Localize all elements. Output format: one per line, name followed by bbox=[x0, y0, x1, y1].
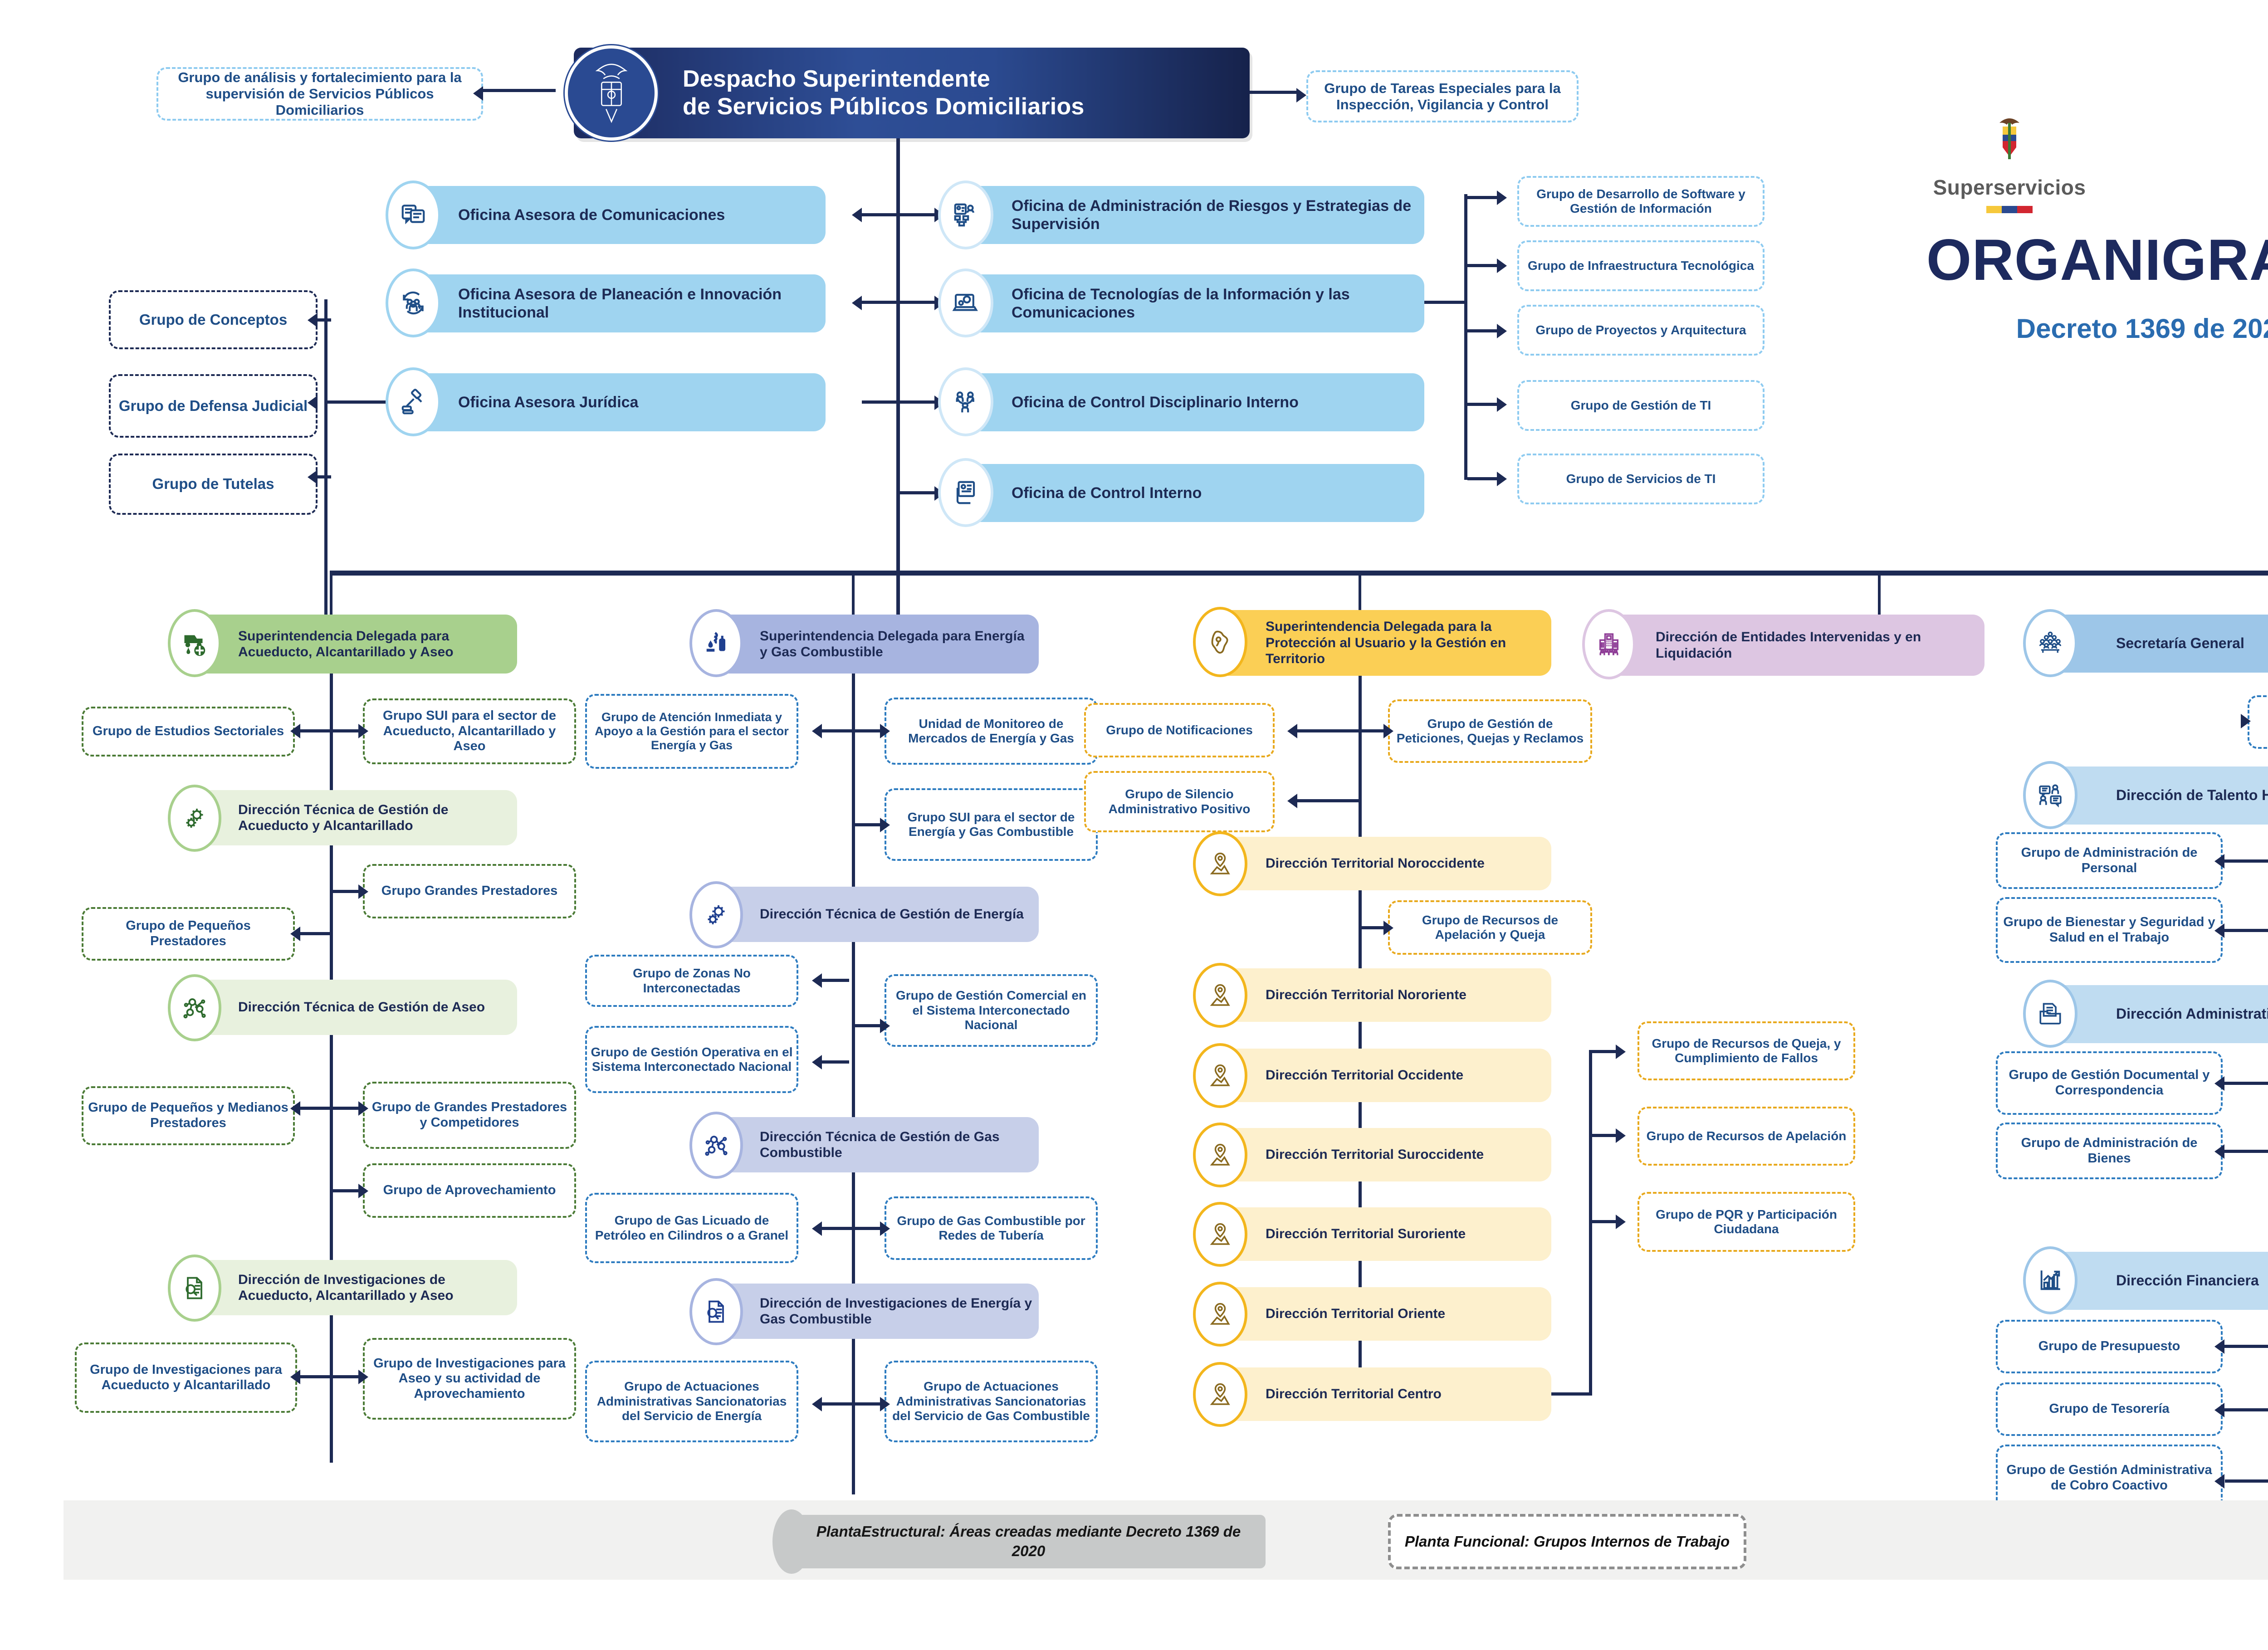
doc-magnifier-icon bbox=[689, 1278, 743, 1345]
arrow-queja-fallos bbox=[1616, 1045, 1626, 1059]
connector-zni bbox=[822, 979, 849, 982]
territorial-label: Dirección Territorial Suroccidente bbox=[1207, 1147, 1489, 1162]
direccion-territorial-centro[interactable]: Dirección Territorial Centro bbox=[1207, 1367, 1551, 1421]
direccion-tecnica-aseo[interactable]: Dirección Técnica de Gestión de Aseo bbox=[181, 980, 517, 1035]
connector-recursos-apelacion bbox=[1592, 1134, 1619, 1137]
office-label: Oficina de Administración de Riesgos y E… bbox=[953, 197, 1424, 233]
grupo-pequenos-prestadores[interactable]: Grupo de Pequeños Prestadores bbox=[82, 907, 295, 961]
grupo-bienestar-seguridad-salud[interactable]: Grupo de Bienestar y Seguridad y Salud e… bbox=[1996, 897, 2223, 963]
connector-conceptos bbox=[318, 318, 331, 322]
direccion-territorial-nororiente[interactable]: Dirección Territorial Nororiente bbox=[1207, 968, 1551, 1022]
juridica-bracket bbox=[324, 299, 327, 617]
connector-centro-out bbox=[1551, 1392, 1592, 1396]
arrow-admin-personal bbox=[2214, 854, 2224, 869]
arrow-estudios bbox=[290, 724, 300, 738]
network-people-icon bbox=[689, 1112, 743, 1179]
connector-tic-out bbox=[1424, 301, 1465, 304]
grupo-administracion-personal[interactable]: Grupo de Administración de Personal bbox=[1996, 832, 2223, 889]
folder-docs-icon bbox=[2023, 980, 2077, 1048]
chat-people-icon bbox=[2023, 761, 2077, 829]
connector-right-top bbox=[1250, 91, 1297, 94]
arrow-act-gas bbox=[880, 1397, 890, 1411]
arrow-office-2 bbox=[852, 296, 862, 310]
chart-growth-icon bbox=[2023, 1246, 2077, 1314]
direccion-investigaciones-acueducto[interactable]: Dirección de Investigaciones de Acueduct… bbox=[181, 1260, 517, 1315]
oficina-tecnologias-informacion[interactable]: Oficina de Tecnologías de la Información… bbox=[953, 274, 1424, 332]
arrow-tutelas bbox=[308, 470, 318, 484]
delegada-proteccion-usuario[interactable]: Superintendencia Delegada para la Protec… bbox=[1207, 610, 1551, 676]
chat-documents-icon bbox=[386, 181, 441, 249]
grupo-grandes-prestadores-competidores[interactable]: Grupo de Grandes Prestadores y Competido… bbox=[363, 1082, 576, 1149]
arrow-tic-3 bbox=[1497, 324, 1507, 338]
page-title: ORGANIGRAMA bbox=[1814, 227, 2268, 293]
grupo-pequenos-medianos-prestadores[interactable]: Grupo de Pequeños y Medianos Prestadores bbox=[82, 1086, 295, 1145]
direccion-label: Dirección de Entidades Intervenidas y en… bbox=[1597, 629, 1984, 661]
colombia-seal-icon bbox=[565, 45, 658, 141]
arrow-peq-med bbox=[290, 1101, 300, 1116]
arrow-tic-1 bbox=[1497, 190, 1507, 205]
arrow-sui-energia bbox=[880, 818, 890, 832]
oficina-asesora-comunicaciones[interactable]: Oficina Asesora de Comunicaciones bbox=[399, 186, 826, 244]
brand-name: Superservicios bbox=[1882, 175, 2136, 200]
grupo-aprovechamiento[interactable]: Grupo de Aprovechamiento bbox=[363, 1163, 576, 1218]
arrow-notif-terr bbox=[1287, 724, 1297, 738]
connector-pequenos-prest bbox=[299, 932, 331, 935]
arrow-tic-4 bbox=[1497, 397, 1507, 412]
connector-tic-5 bbox=[1467, 477, 1499, 480]
connector-gestion-operativa bbox=[822, 1060, 849, 1064]
grupo-recursos-queja-fallos[interactable]: Grupo de Recursos de Queja, y Cumplimien… bbox=[1637, 1021, 1855, 1080]
flag-stripes bbox=[1882, 206, 2136, 213]
arrow-conceptos bbox=[308, 313, 318, 327]
arrow-notif-secretaria bbox=[2241, 714, 2251, 728]
arrow-tic-2 bbox=[1497, 259, 1507, 273]
connector-tic-2 bbox=[1467, 264, 1499, 267]
unidad-monitoreo-mercados[interactable]: Unidad de Monitoreo de Mercados de Energ… bbox=[885, 698, 1098, 765]
arrow-defensa bbox=[308, 395, 318, 410]
grupo-sui-energia-gas[interactable]: Grupo SUI para el sector de Energía y Ga… bbox=[885, 788, 1098, 861]
connector-left-top bbox=[483, 89, 556, 92]
direccion-label: Dirección Técnica de Gestión de Aseo bbox=[181, 999, 490, 1015]
grupo-grandes-prestadores[interactable]: Grupo Grandes Prestadores bbox=[363, 864, 576, 918]
arrow-aprovechamiento bbox=[358, 1184, 368, 1198]
brand-block: Superservicios bbox=[1882, 116, 2136, 213]
people-cycle-icon bbox=[386, 268, 441, 337]
direccion-territorial-suroriente[interactable]: Dirección Territorial Suroriente bbox=[1207, 1207, 1551, 1261]
risk-network-icon bbox=[938, 181, 993, 249]
connector-silencio bbox=[1297, 799, 1359, 802]
legend-planta-estructural: PlantaEstructural: Áreas creadas mediant… bbox=[792, 1515, 1266, 1568]
laptop-gear-icon bbox=[938, 268, 993, 337]
oficina-administracion-riesgos[interactable]: Oficina de Administración de Riesgos y E… bbox=[953, 186, 1424, 244]
arrow-grandes-prest bbox=[358, 884, 368, 899]
delegada-label: Superintendencia Delegada para Energía y… bbox=[703, 628, 1039, 660]
connector-investig-groups bbox=[299, 1375, 363, 1378]
connector-fin-3 bbox=[2225, 1479, 2268, 1483]
grupo-proyectos-arquitectura[interactable]: Grupo de Proyectos y Arquitectura bbox=[1517, 305, 1765, 356]
territorial-label: Dirección Territorial Noroccidente bbox=[1207, 855, 1490, 871]
tic-bracket bbox=[1464, 194, 1467, 480]
direccion-label: Dirección Técnica de Gestión de Gas Comb… bbox=[703, 1129, 1039, 1161]
grupo-actuaciones-energia[interactable]: Grupo de Actuaciones Administrativas San… bbox=[585, 1361, 798, 1442]
arrow-left-top bbox=[473, 86, 483, 101]
gears-icon bbox=[689, 881, 743, 948]
arrow-office-1 bbox=[852, 208, 862, 222]
map-pin-icon bbox=[1193, 1123, 1247, 1187]
connector-tic-4 bbox=[1467, 403, 1499, 406]
connector-th-2 bbox=[2223, 929, 2268, 932]
arrow-pqr-participacion bbox=[1616, 1215, 1626, 1229]
arrow-gestion-comercial bbox=[880, 1019, 890, 1033]
map-pin-icon bbox=[1193, 963, 1247, 1028]
drop-col4 bbox=[1878, 571, 1881, 620]
arrow-admin-bienes bbox=[2214, 1144, 2224, 1159]
grupo-presupuesto[interactable]: Grupo de Presupuesto bbox=[1996, 1320, 2223, 1373]
arrow-atencion bbox=[812, 724, 822, 738]
oficina-asesora-planeacion[interactable]: Oficina Asesora de Planeación e Innovaci… bbox=[399, 274, 826, 332]
grupo-gestion-ti[interactable]: Grupo de Gestión de TI bbox=[1517, 380, 1765, 431]
office-label: Oficina de Control Disciplinario Interno bbox=[953, 393, 1304, 411]
grupo-recursos-apelacion[interactable]: Grupo de Recursos de Apelación bbox=[1637, 1107, 1855, 1166]
network-people-icon bbox=[168, 974, 221, 1041]
connector-office-2 bbox=[862, 301, 898, 304]
connector-adm-1 bbox=[2223, 1082, 2268, 1085]
arrow-right-top bbox=[1296, 88, 1306, 103]
doc-magnifier-icon bbox=[168, 1255, 221, 1322]
grupo-estudios-sectoriales[interactable]: Grupo de Estudios Sectoriales bbox=[82, 707, 295, 757]
grupo-actuaciones-gas[interactable]: Grupo de Actuaciones Administrativas San… bbox=[885, 1361, 1098, 1442]
grupo-gestion-operativa-sin[interactable]: Grupo de Gestión Operativa en el Sistema… bbox=[585, 1026, 798, 1093]
connector-adm-2 bbox=[2223, 1150, 2268, 1153]
connector-energia-groups bbox=[822, 729, 885, 732]
map-pin-icon bbox=[1193, 1043, 1247, 1108]
centro-bracket bbox=[1589, 1050, 1592, 1395]
grupo-desarrollo-software[interactable]: Grupo de Desarrollo de Software y Gestió… bbox=[1517, 176, 1765, 227]
delegada-label: Superintendencia Delegada para la Protec… bbox=[1207, 619, 1551, 667]
grupo-notificaciones-territorio[interactable]: Grupo de Notificaciones bbox=[1084, 703, 1275, 757]
building-people-icon bbox=[1582, 609, 1636, 679]
direccion-territorial-oriente[interactable]: Dirección Territorial Oriente bbox=[1207, 1287, 1551, 1341]
connector-tic-3 bbox=[1467, 329, 1499, 332]
connector-th-1 bbox=[2223, 859, 2268, 863]
arrow-sui-acueducto bbox=[358, 724, 368, 738]
delegada-label: Superintendencia Delegada para Acueducto… bbox=[181, 628, 517, 660]
grupo-zonas-no-interconectadas[interactable]: Grupo de Zonas No Interconectadas bbox=[585, 955, 798, 1007]
connector-office-3 bbox=[862, 400, 898, 404]
colombia-coat-of-arms-icon bbox=[1989, 116, 2030, 170]
arrow-inv-acued bbox=[290, 1370, 300, 1384]
grupo-investigaciones-aseo[interactable]: Grupo de Investigaciones para Aseo y su … bbox=[363, 1338, 576, 1420]
oficina-control-disciplinario[interactable]: Oficina de Control Disciplinario Interno bbox=[953, 373, 1424, 431]
map-pin-icon bbox=[1193, 831, 1247, 896]
connector-tic-1 bbox=[1467, 196, 1499, 199]
arrow-apelacion-queja bbox=[1383, 921, 1393, 935]
id-document-icon bbox=[938, 458, 993, 527]
connector-actuaciones bbox=[822, 1402, 885, 1406]
grupo-recursos-apelacion-queja[interactable]: Grupo de Recursos de Apelación y Queja bbox=[1388, 900, 1592, 955]
connector-fin-2 bbox=[2223, 1408, 2268, 1411]
grupo-administracion-bienes[interactable]: Grupo de Administración de Bienes bbox=[1996, 1123, 2223, 1179]
direccion-investigaciones-energia[interactable]: Dirección de Investigaciones de Energía … bbox=[703, 1284, 1039, 1339]
gavel-icon bbox=[386, 367, 441, 436]
direccion-entidades-intervenidas[interactable]: Dirección de Entidades Intervenidas y en… bbox=[1597, 615, 1984, 676]
connector-fin-1 bbox=[2223, 1345, 2268, 1348]
direccion-territorial-noroccidente[interactable]: Dirección Territorial Noroccidente bbox=[1207, 837, 1551, 890]
direccion-label: Dirección de Investigaciones de Acueduct… bbox=[181, 1272, 517, 1304]
grupo-infraestructura-tecnologica[interactable]: Grupo de Infraestructura Tecnológica bbox=[1517, 240, 1765, 291]
connector-office-1 bbox=[862, 213, 898, 216]
arrow-gestion-operativa bbox=[812, 1055, 822, 1069]
arrow-redes bbox=[880, 1221, 890, 1236]
territorio-spine bbox=[1359, 676, 1362, 1392]
office-label: Oficina de Tecnologías de la Información… bbox=[953, 285, 1424, 322]
grupo-tesoreria[interactable]: Grupo de Tesorería bbox=[1996, 1382, 2223, 1436]
energia-spine bbox=[852, 674, 855, 1494]
page-subtitle: Decreto 1369 de 2020 bbox=[1814, 313, 2268, 344]
connector-gas-groups bbox=[822, 1227, 885, 1230]
direccion-tecnica-gas[interactable]: Dirección Técnica de Gestión de Gas Comb… bbox=[703, 1117, 1039, 1172]
direccion-label: Dirección Técnica de Gestión de Acueduct… bbox=[181, 802, 517, 834]
direccion-territorial-suroccidente[interactable]: Dirección Territorial Suroccidente bbox=[1207, 1128, 1551, 1181]
arrow-monitoreo bbox=[880, 724, 890, 738]
grupo-silencio-administrativo[interactable]: Grupo de Silencio Administrativo Positiv… bbox=[1084, 771, 1275, 832]
connector-aseo-groups bbox=[299, 1107, 363, 1110]
grupo-tareas-especiales[interactable]: Grupo de Tareas Especiales para la Inspe… bbox=[1306, 70, 1579, 122]
oficina-control-interno[interactable]: Oficina de Control Interno bbox=[953, 464, 1424, 522]
grupo-gas-redes-tuberia[interactable]: Grupo de Gas Combustible por Redes de Tu… bbox=[885, 1196, 1098, 1260]
delegada-acueducto[interactable]: Superintendencia Delegada para Acueducto… bbox=[181, 615, 517, 674]
organigram-canvas: Despacho Superintendente de Servicios Pú… bbox=[0, 0, 2268, 1650]
grupo-gestion-pqr[interactable]: Grupo de Gestión de Peticiones, Quejas y… bbox=[1388, 699, 1592, 763]
grupo-gestion-comercial-sin[interactable]: Grupo de Gestión Comercial en el Sistema… bbox=[885, 974, 1098, 1047]
oficina-asesora-juridica[interactable]: Oficina Asesora Jurídica bbox=[399, 373, 826, 431]
arrow-presupuesto bbox=[2214, 1339, 2224, 1354]
grupo-analisis-fortalecimiento[interactable]: Grupo de análisis y fortalecimiento para… bbox=[156, 67, 483, 121]
grupo-tutelas[interactable]: Grupo de Tutelas bbox=[109, 454, 318, 515]
grupo-investigaciones-acueducto-alcantarillado[interactable]: Grupo de Investigaciones para Acueducto … bbox=[75, 1342, 297, 1413]
connector-tutelas bbox=[318, 475, 331, 478]
arrow-bienestar bbox=[2214, 923, 2224, 938]
office-label: Oficina Asesora de Planeación e Innovaci… bbox=[399, 285, 826, 322]
audience-icon bbox=[2023, 609, 2077, 677]
connector-territorio-groups bbox=[1297, 729, 1390, 732]
direccion-label: Dirección de Investigaciones de Energía … bbox=[703, 1295, 1039, 1328]
arrow-gestion-documental bbox=[2214, 1076, 2224, 1091]
arrow-pqr bbox=[1383, 724, 1393, 738]
arrow-glp bbox=[812, 1221, 822, 1236]
arrow-grandes-comp bbox=[358, 1101, 368, 1116]
arrow-cobro-coactivo bbox=[2214, 1474, 2224, 1489]
people-group-icon bbox=[938, 367, 993, 436]
grupo-servicios-ti[interactable]: Grupo de Servicios de TI bbox=[1517, 454, 1765, 504]
map-pin-icon bbox=[1193, 1362, 1247, 1427]
grupo-gas-licuado-petroleo[interactable]: Grupo de Gas Licuado de Petróleo en Cili… bbox=[585, 1193, 798, 1263]
map-pin-country-icon bbox=[1193, 607, 1247, 677]
arrow-tic-5 bbox=[1497, 472, 1507, 486]
connector-pqr-participacion bbox=[1592, 1220, 1619, 1223]
legend-planta-funcional: Planta Funcional: Grupos Internos de Tra… bbox=[1388, 1514, 1746, 1569]
office-label: Oficina Asesora de Comunicaciones bbox=[399, 206, 730, 224]
arrow-zni bbox=[812, 973, 822, 988]
grupo-sui-acueducto[interactable]: Grupo SUI para el sector de Acueducto, A… bbox=[363, 698, 576, 764]
arrow-act-energia bbox=[812, 1397, 822, 1411]
map-pin-icon bbox=[1193, 1202, 1247, 1267]
arrow-pequenos-prest bbox=[290, 927, 300, 941]
direccion-territorial-occidente[interactable]: Dirección Territorial Occidente bbox=[1207, 1049, 1551, 1102]
connector-queja-fallos bbox=[1592, 1050, 1619, 1053]
direccion-tecnica-acueducto[interactable]: Dirección Técnica de Gestión de Acueduct… bbox=[181, 790, 517, 845]
grupo-gestion-documental[interactable]: Grupo de Gestión Documental y Correspond… bbox=[1996, 1051, 2223, 1115]
arrow-silencio bbox=[1287, 794, 1297, 808]
arrow-inv-aseo bbox=[358, 1370, 368, 1384]
grupo-pqr-participacion[interactable]: Grupo de PQR y Participación Ciudadana bbox=[1637, 1192, 1855, 1252]
grupo-conceptos[interactable]: Grupo de Conceptos bbox=[109, 290, 318, 349]
direccion-tecnica-energia[interactable]: Dirección Técnica de Gestión de Energía bbox=[703, 887, 1039, 942]
connector-acueducto-groups bbox=[299, 729, 363, 732]
map-pin-icon bbox=[1193, 1282, 1247, 1347]
grupo-defensa-judicial[interactable]: Grupo de Defensa Judicial bbox=[109, 374, 318, 438]
despacho-superintendente-box[interactable]: Despacho Superintendente de Servicios Pú… bbox=[574, 48, 1250, 138]
gears-icon bbox=[168, 785, 221, 852]
direccion-label: Dirección Técnica de Gestión de Energía bbox=[703, 906, 1029, 922]
arrow-recursos-apelacion bbox=[1616, 1128, 1626, 1143]
arrow-tesoreria bbox=[2214, 1403, 2224, 1417]
delegada-energia[interactable]: Superintendencia Delegada para Energía y… bbox=[703, 615, 1039, 674]
water-waste-truck-icon bbox=[168, 609, 221, 677]
grupo-atencion-inmediata-energia[interactable]: Grupo de Atención Inmediata y Apoyo a la… bbox=[585, 694, 798, 769]
energy-gas-icon bbox=[689, 609, 743, 677]
delegadas-bus bbox=[330, 571, 2268, 576]
